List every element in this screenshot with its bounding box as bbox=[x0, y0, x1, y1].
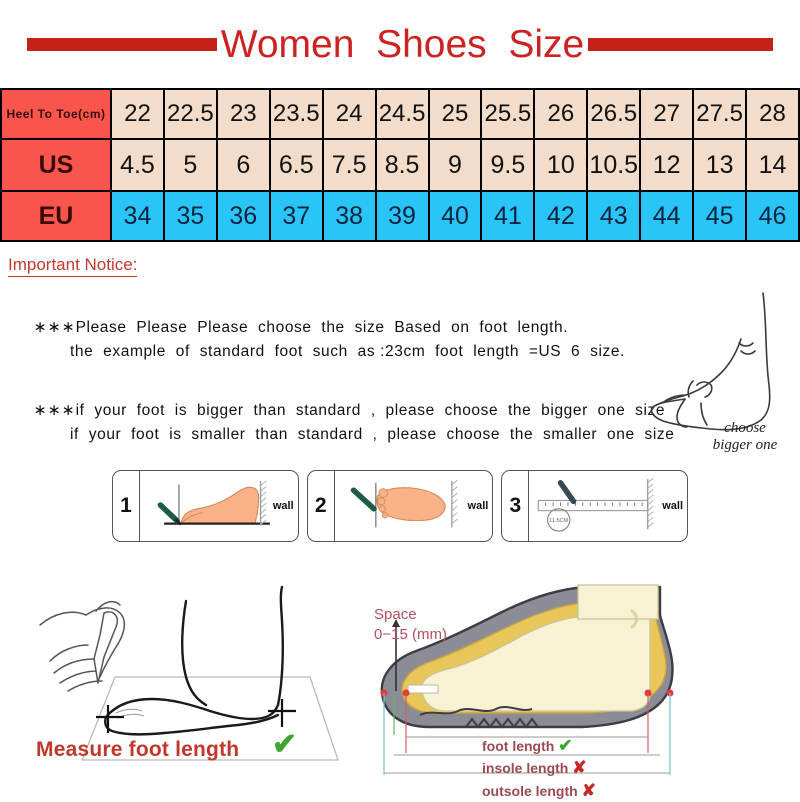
legend-insole-length-label: insole length bbox=[482, 760, 568, 776]
cell-us: 13 bbox=[693, 139, 746, 191]
cell-eu: 36 bbox=[217, 191, 270, 241]
important-notice-heading: Important Notice: bbox=[8, 256, 137, 277]
measurement-steps: 1 wall bbox=[112, 470, 688, 542]
row-label-heel-to-toe: Heel To Toe(cm) bbox=[1, 89, 111, 139]
cell-us: 10 bbox=[534, 139, 587, 191]
cell-eu: 37 bbox=[270, 191, 323, 241]
notice-bullet-stars: ∗∗∗ bbox=[34, 402, 76, 419]
foot-length-check-icon: ✔ bbox=[558, 736, 572, 755]
table-row-eu: EU 34 35 36 37 38 39 40 41 42 43 44 45 4… bbox=[1, 191, 799, 241]
insole-length-cross-icon: ✘ bbox=[572, 758, 586, 777]
cell-eu: 38 bbox=[323, 191, 376, 241]
step-1-illustration: wall bbox=[140, 471, 298, 541]
cell-eu: 45 bbox=[693, 191, 746, 241]
cell-us: 12 bbox=[640, 139, 693, 191]
cell-cm: 27.5 bbox=[693, 89, 746, 139]
notice-line-1b: the example of standard foot such as :23… bbox=[14, 340, 625, 364]
cell-us: 6.5 bbox=[270, 139, 323, 191]
title-bar-left bbox=[27, 38, 217, 51]
cell-eu: 40 bbox=[429, 191, 482, 241]
measure-foot-length-caption: Measure foot length bbox=[36, 738, 239, 762]
cell-cm: 23 bbox=[217, 89, 270, 139]
cell-eu: 41 bbox=[481, 191, 534, 241]
legend-outsole-length-label: outsole length bbox=[482, 783, 578, 799]
cell-cm: 26.5 bbox=[587, 89, 640, 139]
cell-eu: 39 bbox=[376, 191, 429, 241]
size-conversion-table: Heel To Toe(cm) 22 22.5 23 23.5 24 24.5 … bbox=[0, 88, 800, 242]
cell-eu: 35 bbox=[164, 191, 217, 241]
step-number-2: 2 bbox=[308, 471, 335, 541]
measure-check-icon: ✔ bbox=[272, 730, 297, 760]
cell-cm: 22 bbox=[111, 89, 164, 139]
legend-foot-length-label: foot length bbox=[482, 738, 554, 754]
cell-cm: 27 bbox=[640, 89, 693, 139]
cell-us: 7.5 bbox=[323, 139, 376, 191]
cell-us: 9.5 bbox=[481, 139, 534, 191]
cell-eu: 34 bbox=[111, 191, 164, 241]
step-2-illustration: wall bbox=[335, 471, 493, 541]
wall-label: wall bbox=[662, 500, 683, 512]
page-title-row: Women Shoes Size bbox=[0, 18, 800, 70]
notice-bullet-stars: ∗∗∗ bbox=[34, 319, 76, 336]
table-row-us: US 4.5 5 6 6.5 7.5 8.5 9 9.5 10 10.5 12 … bbox=[1, 139, 799, 191]
cell-cm: 26 bbox=[534, 89, 587, 139]
cell-us: 8.5 bbox=[376, 139, 429, 191]
cell-eu: 43 bbox=[587, 191, 640, 241]
cell-eu: 44 bbox=[640, 191, 693, 241]
space-label: Space 0−15 (mm) bbox=[374, 605, 447, 646]
step-3-illustration: 11.5CM wall bbox=[529, 471, 687, 541]
step-panel-3: 3 11.5CM bbox=[501, 470, 688, 542]
foot-sketch-caption: choose bigger one bbox=[690, 420, 800, 455]
legend-outsole-length: outsole length ✘ bbox=[482, 780, 596, 802]
notice-line-2b: if your foot is smaller than standard , … bbox=[14, 423, 674, 447]
cell-us: 5 bbox=[164, 139, 217, 191]
step-number-1: 1 bbox=[113, 471, 140, 541]
size-chart-page: Women Shoes Size Heel To Toe(cm) 22 22.5… bbox=[0, 0, 800, 800]
step-panel-2: 2 wal bbox=[307, 470, 494, 542]
ruler-mark-label: 11.5CM bbox=[550, 518, 569, 524]
notice-line-2a: if your foot is bigger than standard , p… bbox=[76, 402, 666, 419]
title-bar-right bbox=[588, 38, 773, 51]
row-label-us: US bbox=[1, 139, 111, 191]
wall-label: wall bbox=[468, 500, 489, 512]
legend-insole-length: insole length ✘ bbox=[482, 757, 596, 779]
table-row-heel-to-toe: Heel To Toe(cm) 22 22.5 23 23.5 24 24.5 … bbox=[1, 89, 799, 139]
cell-us: 6 bbox=[217, 139, 270, 191]
cell-us: 14 bbox=[746, 139, 799, 191]
cell-cm: 28 bbox=[746, 89, 799, 139]
cell-cm: 22.5 bbox=[164, 89, 217, 139]
cell-cm: 25 bbox=[429, 89, 482, 139]
sketch-caption-line1: choose bbox=[724, 420, 766, 436]
cell-eu: 42 bbox=[534, 191, 587, 241]
cell-us: 4.5 bbox=[111, 139, 164, 191]
cell-cm: 25.5 bbox=[481, 89, 534, 139]
cell-us: 9 bbox=[429, 139, 482, 191]
cell-cm: 24.5 bbox=[376, 89, 429, 139]
page-title: Women Shoes Size bbox=[221, 25, 584, 64]
outsole-length-cross-icon: ✘ bbox=[582, 781, 596, 800]
notice-line-1a: Please Please Please choose the size Bas… bbox=[76, 319, 569, 336]
sketch-caption-line2: bigger one bbox=[713, 437, 778, 453]
wall-label: wall bbox=[273, 500, 294, 512]
cell-cm: 23.5 bbox=[270, 89, 323, 139]
cell-cm: 24 bbox=[323, 89, 376, 139]
step-number-3: 3 bbox=[502, 471, 529, 541]
cell-us: 10.5 bbox=[587, 139, 640, 191]
legend-foot-length: foot length ✔ bbox=[482, 735, 596, 757]
step-panel-1: 1 wall bbox=[112, 470, 299, 542]
row-label-eu: EU bbox=[1, 191, 111, 241]
cell-eu: 46 bbox=[746, 191, 799, 241]
length-legend: foot length ✔ insole length ✘ outsole le… bbox=[482, 735, 596, 802]
